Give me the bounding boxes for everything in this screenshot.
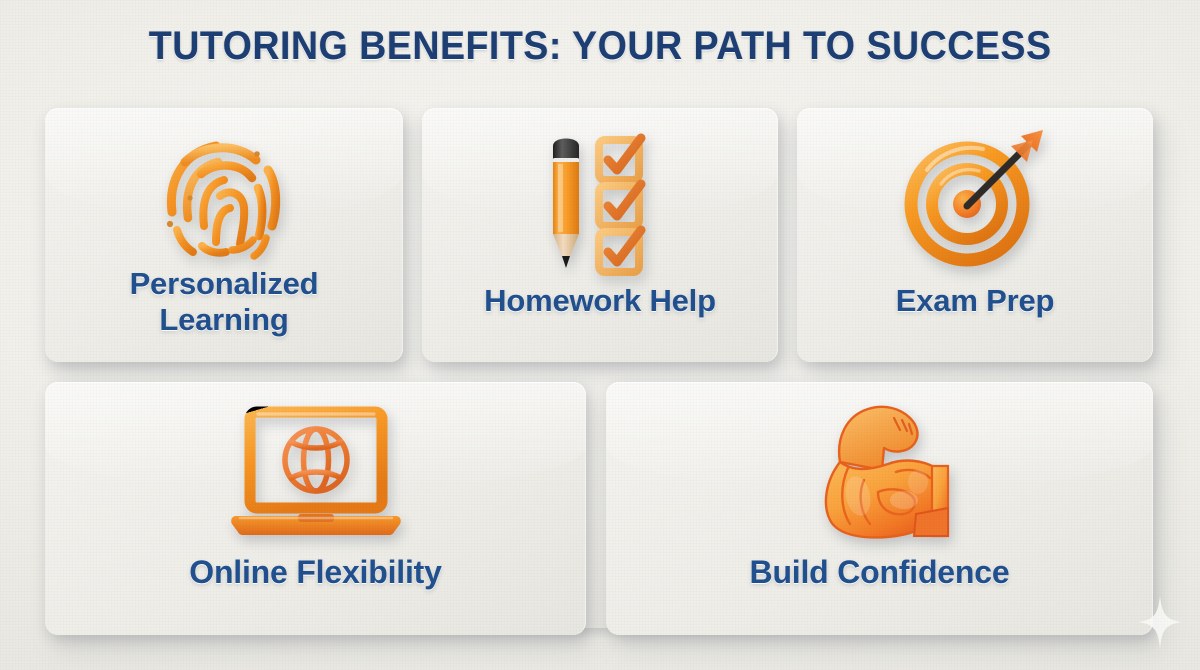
- benefit-card-homework-help[interactable]: Homework Help: [422, 108, 778, 362]
- title-container: TUTORING BENEFITS: YOUR PATH TO SUCCESS: [0, 26, 1200, 66]
- benefit-card-exam-prep[interactable]: Exam Prep: [797, 108, 1153, 362]
- benefit-card-online-flexibility[interactable]: Online Flexibility: [45, 382, 586, 635]
- pencil-checklist-icon: [525, 128, 675, 276]
- icon-container: [606, 396, 1153, 546]
- benefit-card-build-confidence[interactable]: Build Confidence: [606, 382, 1153, 635]
- benefit-label: Personalized Learning: [45, 266, 403, 338]
- benefit-label: Homework Help: [422, 283, 778, 319]
- infographic-poster: TUTORING BENEFITS: YOUR PATH TO SUCCESS: [0, 0, 1200, 670]
- benefit-label: Exam Prep: [797, 283, 1153, 319]
- laptop-globe-icon: [224, 404, 408, 546]
- icon-container: [422, 128, 778, 276]
- icon-container: [797, 126, 1153, 276]
- target-arrow-icon: [897, 126, 1053, 276]
- sparkle-icon: [1138, 596, 1182, 648]
- fingerprint-icon: [144, 134, 304, 260]
- icon-container: [45, 134, 403, 260]
- icon-container: [45, 404, 586, 546]
- benefit-card-personalized-learning[interactable]: Personalized Learning: [45, 108, 403, 362]
- flexed-bicep-icon: [796, 396, 964, 546]
- benefit-label: Build Confidence: [606, 554, 1153, 591]
- page-title: TUTORING BENEFITS: YOUR PATH TO SUCCESS: [149, 26, 1052, 66]
- benefit-label: Online Flexibility: [45, 554, 586, 591]
